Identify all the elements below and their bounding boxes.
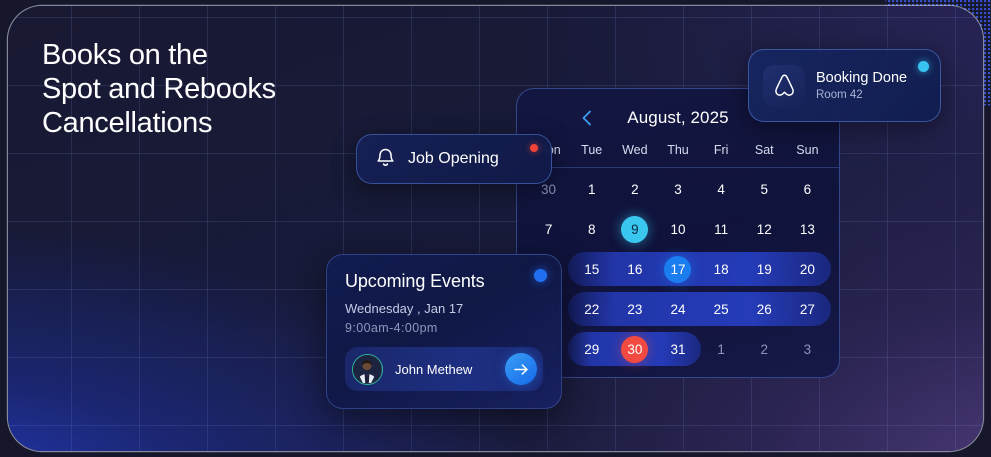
calendar-day-6[interactable]: 6	[786, 182, 829, 197]
calendar-day-31[interactable]: 31	[656, 342, 699, 357]
weekday-sat: Sat	[743, 143, 786, 157]
calendar-day-7[interactable]: 7	[527, 222, 570, 237]
calendar-week-row: 30123456	[517, 170, 839, 208]
calendar-day-16[interactable]: 16	[613, 262, 656, 277]
weekday-sun: Sun	[786, 143, 829, 157]
calendar-day-13[interactable]: 13	[786, 222, 829, 237]
day-highlight-cyan: 9	[621, 216, 648, 243]
calendar-week-row: 28293031123	[517, 330, 839, 368]
job-opening-chip[interactable]: Job Opening	[356, 134, 552, 184]
upcoming-events-title: Upcoming Events	[345, 271, 543, 292]
calendar-day-1[interactable]: 1	[570, 182, 613, 197]
calendar-week-row: 78910111213	[517, 210, 839, 248]
calendar-day-2[interactable]: 2	[743, 342, 786, 357]
weekday-fri: Fri	[700, 143, 743, 157]
event-date: Wednesday , Jan 17	[345, 301, 543, 316]
calendar-day-22[interactable]: 22	[570, 302, 613, 317]
booking-subtitle: Room 42	[816, 89, 907, 101]
calendar-day-24[interactable]: 24	[656, 302, 699, 317]
calendar-day-15[interactable]: 15	[570, 262, 613, 277]
status-badge-dot	[918, 61, 929, 72]
events-badge-dot	[534, 269, 547, 282]
page-title: Books on the Spot and Rebooks Cancellati…	[42, 38, 276, 140]
event-time: 9:00am-4:00pm	[345, 321, 543, 335]
calendar-day-30[interactable]: 30	[613, 336, 656, 363]
calendar-day-3[interactable]: 3	[656, 182, 699, 197]
calendar-day-5[interactable]: 5	[743, 182, 786, 197]
calendar-day-26[interactable]: 26	[743, 302, 786, 317]
job-opening-label: Job Opening	[408, 150, 499, 168]
chevron-left-icon[interactable]	[577, 109, 595, 127]
calendar-grid: 3012345678910111213141516171819202122232…	[517, 170, 839, 368]
bell-icon	[375, 146, 396, 173]
booking-title: Booking Done	[816, 70, 907, 87]
attendee-name: John Methew	[395, 362, 493, 377]
calendar-day-11[interactable]: 11	[700, 222, 743, 237]
hero-card: Books on the Spot and Rebooks Cancellati…	[8, 6, 983, 451]
calendar-weekday-header: MonTueWedThuFriSatSun	[517, 139, 839, 168]
day-highlight-blue: 17	[664, 256, 691, 283]
weekday-thu: Thu	[656, 143, 699, 157]
calendar-day-29[interactable]: 29	[570, 342, 613, 357]
calendar-day-23[interactable]: 23	[613, 302, 656, 317]
calendar-title: August, 2025	[627, 108, 728, 128]
airbnb-icon	[763, 65, 805, 107]
calendar-week-row: 21222324252627	[517, 290, 839, 328]
calendar-day-12[interactable]: 12	[743, 222, 786, 237]
notification-badge-dot	[530, 144, 538, 152]
calendar-panel: August, 2025 MonTueWedThuFriSatSun 30123…	[516, 88, 840, 378]
calendar-day-4[interactable]: 4	[700, 182, 743, 197]
weekday-tue: Tue	[570, 143, 613, 157]
booking-done-card[interactable]: Booking Done Room 42	[748, 49, 941, 122]
weekday-wed: Wed	[613, 143, 656, 157]
calendar-day-19[interactable]: 19	[743, 262, 786, 277]
calendar-day-20[interactable]: 20	[786, 262, 829, 277]
calendar-day-18[interactable]: 18	[700, 262, 743, 277]
calendar-day-25[interactable]: 25	[700, 302, 743, 317]
day-highlight-red: 30	[621, 336, 648, 363]
calendar-week-row: 14151617181920	[517, 250, 839, 288]
calendar-day-10[interactable]: 10	[656, 222, 699, 237]
upcoming-events-card: Upcoming Events Wednesday , Jan 17 9:00a…	[326, 254, 562, 409]
screenshot-stage: Books on the Spot and Rebooks Cancellati…	[0, 0, 991, 457]
booking-card-text: Booking Done Room 42	[816, 70, 907, 101]
calendar-day-17[interactable]: 17	[656, 256, 699, 283]
calendar-day-1[interactable]: 1	[700, 342, 743, 357]
attendee-row[interactable]: John Methew	[345, 347, 543, 391]
calendar-day-8[interactable]: 8	[570, 222, 613, 237]
calendar-day-2[interactable]: 2	[613, 182, 656, 197]
arrow-right-icon[interactable]	[505, 353, 537, 385]
calendar-day-27[interactable]: 27	[786, 302, 829, 317]
calendar-day-3[interactable]: 3	[786, 342, 829, 357]
avatar	[352, 354, 383, 385]
calendar-day-9[interactable]: 9	[613, 216, 656, 243]
